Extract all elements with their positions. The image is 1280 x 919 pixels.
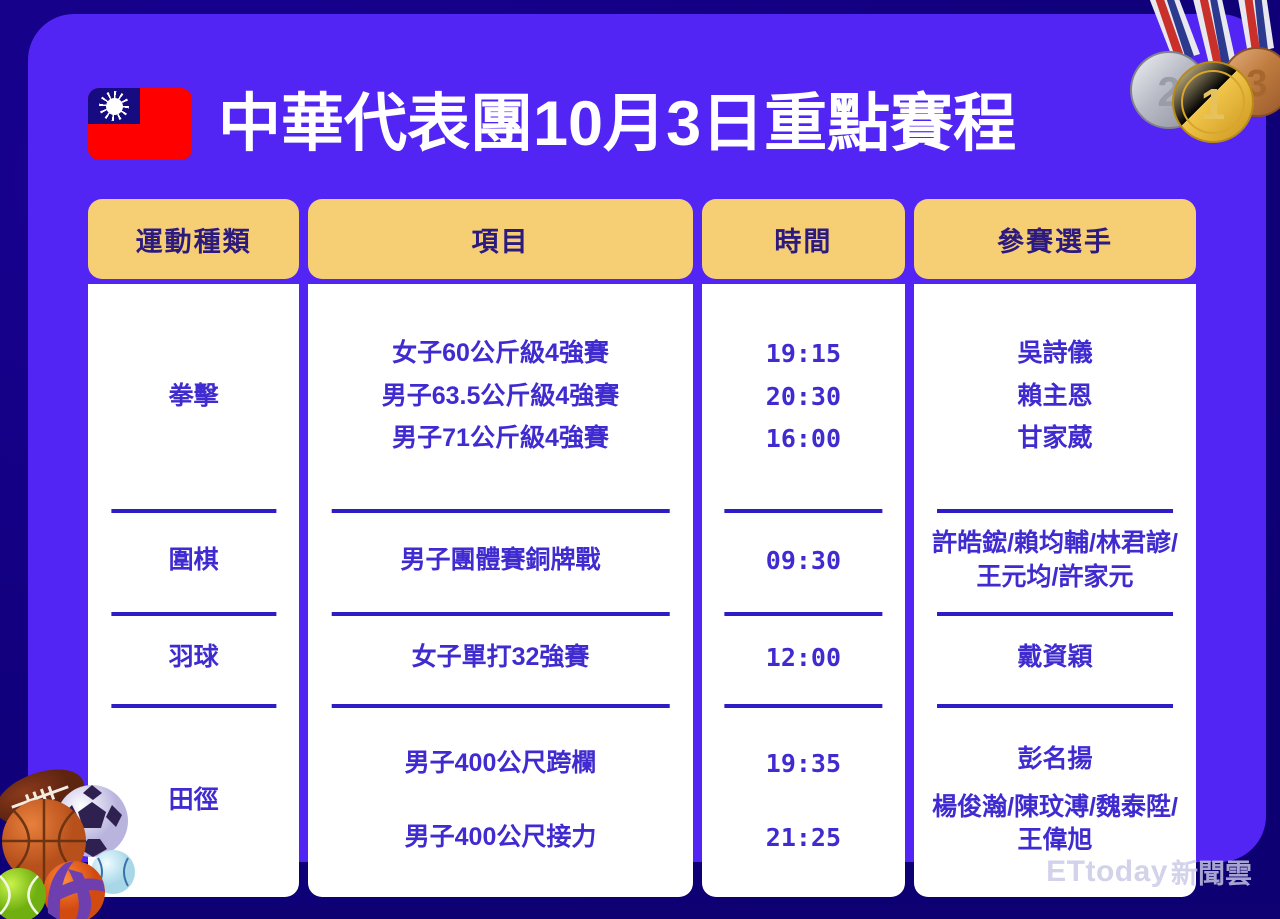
cell-event: 男子400公尺接力	[405, 821, 597, 855]
cell-athlete: 許皓鋐/賴均輔/林君諺/王元均/許家元	[926, 527, 1184, 595]
cell-sport: 圍棋	[169, 544, 219, 578]
cell-event: 男子63.5公斤級4強賽	[382, 380, 620, 414]
table-row: 吳詩儀 賴主恩 甘家葳	[914, 284, 1196, 509]
table-row: 羽球	[88, 612, 299, 704]
cell-time: 09:30	[766, 544, 841, 578]
cell-event: 男子71公斤級4強賽	[392, 422, 609, 456]
column-header-time: 時間	[702, 199, 905, 279]
column-header-sport: 運動種類	[88, 199, 299, 279]
watermark-brand-latin: ETtoday	[1046, 855, 1168, 889]
header: 中華代表團10月3日重點賽程	[88, 78, 1188, 170]
svg-text:1: 1	[1201, 80, 1225, 129]
page-title: 中華代表團10月3日重點賽程	[218, 93, 1016, 156]
watermark: ETtoday 新聞雲	[1046, 852, 1252, 891]
cell-event: 男子團體賽銅牌戰	[401, 544, 601, 578]
cell-athlete: 甘家葳	[1018, 422, 1093, 456]
cell-athlete: 楊俊瀚/陳玟溥/魏泰陞/王偉旭	[926, 791, 1184, 859]
table-row: 女子單打32強賽	[308, 612, 693, 704]
table-row: 女子60公斤級4強賽 男子63.5公斤級4強賽 男子71公斤級4強賽	[308, 284, 693, 509]
cell-time: 20:30	[766, 380, 841, 414]
table-row: 男子團體賽銅牌戰	[308, 509, 693, 612]
cell-time: 12:00	[766, 641, 841, 675]
table-row: 12:00	[702, 612, 905, 704]
table-row: 許皓鋐/賴均輔/林君諺/王元均/許家元	[914, 509, 1196, 612]
column-body-time: 19:15 20:30 16:00 09:30 12:00 19:35 21:2…	[702, 284, 905, 897]
cell-sport: 拳擊	[169, 380, 219, 414]
cell-time: 19:35	[766, 747, 841, 781]
table-row: 男子400公尺跨欄 男子400公尺接力	[308, 704, 693, 897]
cell-sport: 羽球	[169, 641, 219, 675]
cell-athlete: 彭名揚	[1018, 743, 1093, 777]
table-column-time: 時間 19:15 20:30 16:00 09:30 12:00 19:35 2…	[702, 199, 905, 817]
cell-athlete: 戴資穎	[1018, 641, 1093, 675]
medals-icon: 3 2 1	[1096, 0, 1280, 154]
cell-event: 男子400公尺跨欄	[405, 747, 597, 781]
cell-time: 21:25	[766, 821, 841, 855]
taiwan-flag-icon	[88, 88, 192, 160]
cell-athlete: 吳詩儀	[1018, 337, 1093, 371]
column-header-event: 項目	[308, 199, 693, 279]
column-body-event: 女子60公斤級4強賽 男子63.5公斤級4強賽 男子71公斤級4強賽 男子團體賽…	[308, 284, 693, 897]
cell-athlete: 賴主恩	[1018, 380, 1093, 414]
table-row: 09:30	[702, 509, 905, 612]
cell-time: 19:15	[766, 337, 841, 371]
table-row: 19:35 21:25	[702, 704, 905, 897]
table-row: 圍棋	[88, 509, 299, 612]
table-column-sport: 運動種類 拳擊 圍棋 羽球 田徑	[88, 199, 299, 817]
cell-event: 女子單打32強賽	[412, 641, 590, 675]
sports-balls-icon	[0, 769, 148, 919]
table-row: 戴資穎	[914, 612, 1196, 704]
cell-time: 16:00	[766, 422, 841, 456]
table-row: 19:15 20:30 16:00	[702, 284, 905, 509]
column-body-athletes: 吳詩儀 賴主恩 甘家葳 許皓鋐/賴均輔/林君諺/王元均/許家元 戴資穎 彭名揚 …	[914, 284, 1196, 897]
cell-event: 女子60公斤級4強賽	[392, 337, 609, 371]
column-header-athletes: 參賽選手	[914, 199, 1196, 279]
table-column-event: 項目 女子60公斤級4強賽 男子63.5公斤級4強賽 男子71公斤級4強賽 男子…	[308, 199, 693, 817]
table-row: 拳擊	[88, 284, 299, 509]
watermark-brand-cjk: 新聞雲	[1171, 852, 1252, 891]
flag-sun-disc	[106, 98, 123, 115]
cell-sport: 田徑	[169, 784, 219, 818]
table-column-athletes: 參賽選手 吳詩儀 賴主恩 甘家葳 許皓鋐/賴均輔/林君諺/王元均/許家元 戴資穎…	[914, 199, 1196, 817]
schedule-table: 運動種類 拳擊 圍棋 羽球 田徑 項目 女子60公斤級4強賽 男子63.5公斤級…	[88, 199, 1196, 817]
